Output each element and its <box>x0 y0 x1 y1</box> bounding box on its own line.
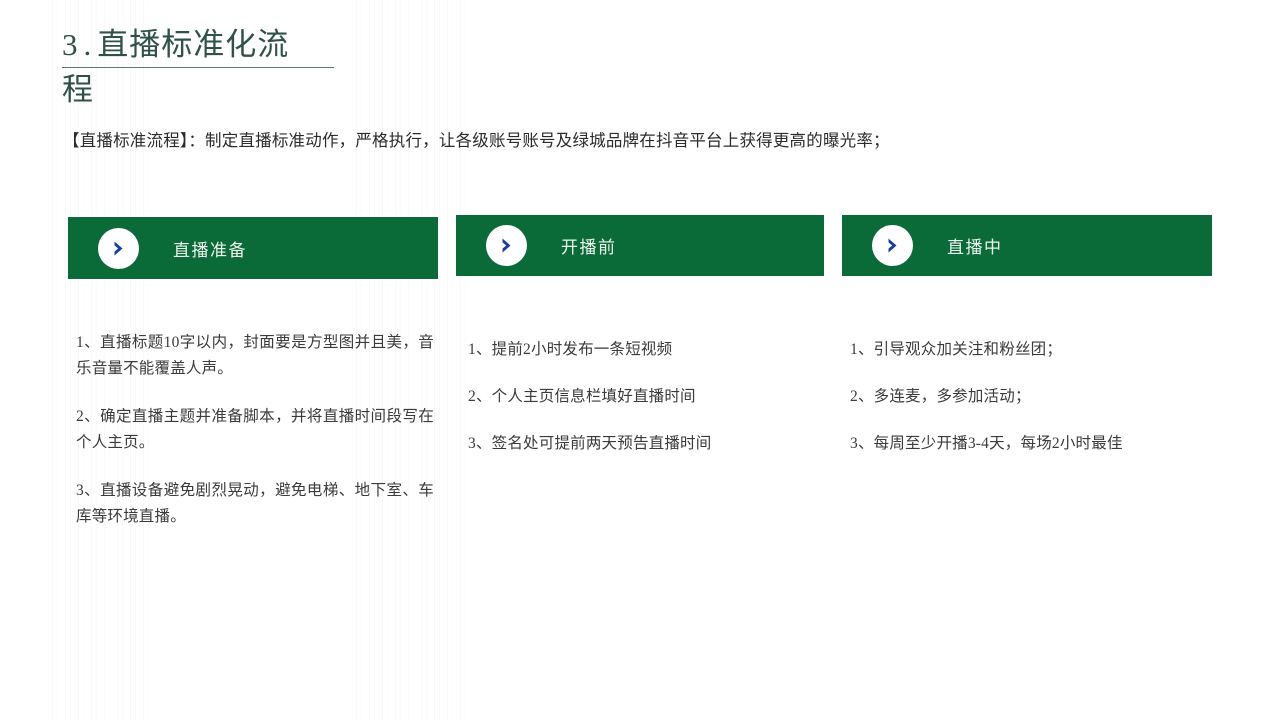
list-item: 2、个人主页信息栏填好直播时间 <box>468 384 824 410</box>
list-item: 3、每周至少开播3-4天，每场2小时最佳 <box>850 431 1212 457</box>
column-body-before-live: 1、提前2小时发布一条短视频 2、个人主页信息栏填好直播时间 3、签名处可提前两… <box>456 337 824 478</box>
list-item: 2、多连麦，多参加活动； <box>850 384 1212 410</box>
list-item: 3、签名处可提前两天预告直播时间 <box>468 431 824 457</box>
chevron-right-icon <box>98 228 139 269</box>
list-item: 2、确定直播主题并准备脚本，并将直播时间段写在个人主页。 <box>76 404 434 456</box>
column-header-during-live[interactable]: 直播中 <box>842 215 1212 276</box>
column-header-label: 开播前 <box>561 233 617 258</box>
column-header-label: 直播中 <box>947 233 1003 258</box>
list-item: 3、直播设备避免剧烈晃动，避免电梯、地下室、车库等环境直播。 <box>76 478 434 530</box>
list-item: 1、直播标题10字以内，封面要是方型图并且美，音乐音量不能覆盖人声。 <box>76 330 434 382</box>
list-item: 1、提前2小时发布一条短视频 <box>468 337 824 363</box>
column-header-live-prep[interactable]: 直播准备 <box>68 217 438 279</box>
column-body-live-prep: 1、直播标题10字以内，封面要是方型图并且美，音乐音量不能覆盖人声。 2、确定直… <box>68 330 438 552</box>
column-header-label: 直播准备 <box>173 236 247 261</box>
column-header-before-live[interactable]: 开播前 <box>456 215 824 276</box>
chevron-right-icon <box>872 225 913 266</box>
process-columns: 直播准备 1、直播标题10字以内，封面要是方型图并且美，音乐音量不能覆盖人声。 … <box>0 0 1280 720</box>
slide-canvas: 3.直播标准化流 程 【直播标准流程】：制定直播标准动作，严格执行，让各级账号账… <box>0 0 1280 720</box>
chevron-right-icon <box>486 225 527 266</box>
list-item: 1、引导观众加关注和粉丝团； <box>850 337 1212 363</box>
column-body-during-live: 1、引导观众加关注和粉丝团； 2、多连麦，多参加活动； 3、每周至少开播3-4天… <box>842 337 1212 478</box>
